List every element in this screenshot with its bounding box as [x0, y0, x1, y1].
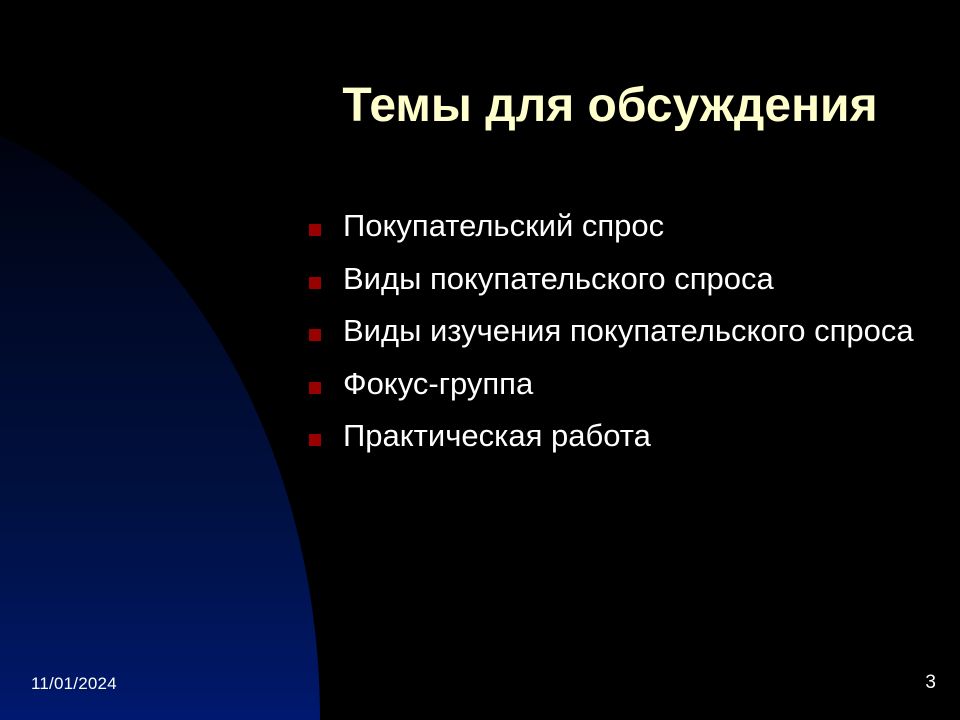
square-bullet-icon — [309, 434, 321, 446]
slide-title: Темы для обсуждения — [300, 80, 920, 133]
list-item-label: Практическая работа — [343, 418, 651, 453]
list-item: Покупательский спрос — [305, 205, 925, 247]
list-item: Виды покупательского спроса — [305, 258, 925, 300]
slide-canvas: Темы для обсуждения Покупательский спрос… — [0, 0, 960, 720]
list-item: Фокус-группа — [305, 363, 925, 405]
list-item-label: Виды изучения покупательского спроса — [343, 313, 914, 348]
footer-date: 11/01/2024 — [31, 674, 117, 694]
square-bullet-icon — [309, 224, 321, 236]
slide-number: 3 — [925, 672, 936, 694]
square-bullet-icon — [309, 382, 321, 394]
blue-ellipse-decoration — [0, 100, 320, 720]
list-item-label: Покупательский спрос — [343, 208, 664, 243]
bullet-list: Покупательский спрос Виды покупательског… — [305, 205, 925, 468]
list-item-label: Виды покупательского спроса — [343, 261, 774, 296]
square-bullet-icon — [309, 277, 321, 289]
list-item: Виды изучения покупательского спроса — [305, 310, 925, 352]
list-item-label: Фокус-группа — [343, 366, 533, 401]
list-item: Практическая работа — [305, 415, 925, 457]
square-bullet-icon — [309, 329, 321, 341]
